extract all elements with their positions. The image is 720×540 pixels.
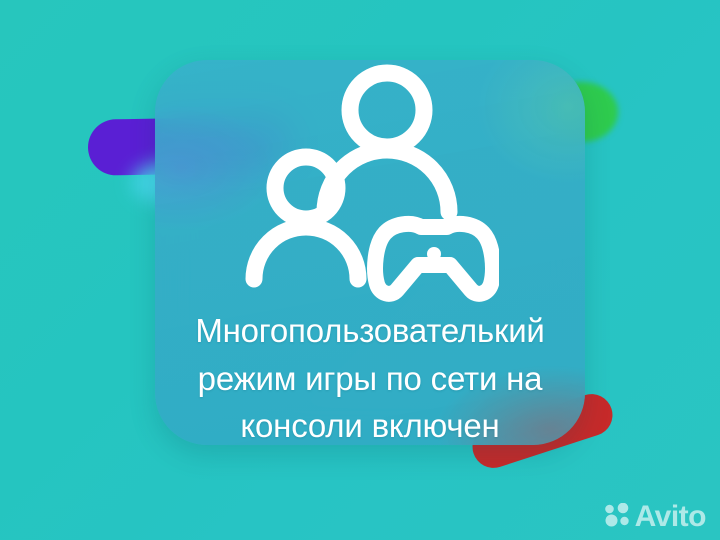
avito-dots-logo: [604, 503, 630, 532]
avito-wordmark: Avito: [635, 502, 706, 532]
avito-watermark: Avito: [604, 502, 706, 532]
two-users-with-gamepad-icon: [241, 64, 499, 307]
card-caption: Многопользователький режим игры по сети …: [155, 307, 585, 445]
glass-info-card: Многопользователький режим игры по сети …: [155, 60, 585, 445]
poster-canvas: Многопользователький режим игры по сети …: [0, 0, 720, 540]
